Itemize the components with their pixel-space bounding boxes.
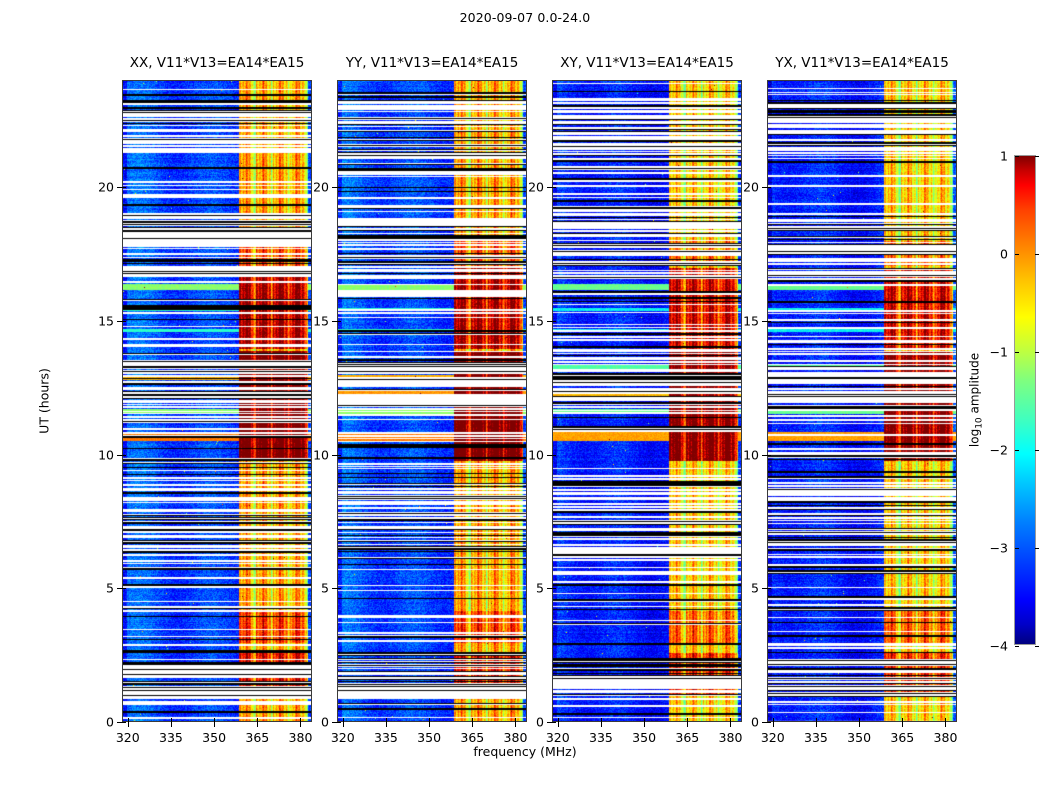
x-tick-mark xyxy=(902,722,903,727)
x-axis-label: frequency (MHz) xyxy=(0,744,1050,759)
x-tick-mark xyxy=(730,722,731,727)
x-tick-mark-inner xyxy=(773,718,774,722)
colorbar-tick-label: −3 xyxy=(990,541,1008,556)
x-tick-label: 380 xyxy=(289,730,313,745)
y-tick-mark-inner xyxy=(337,187,341,188)
y-tick-label: 5 xyxy=(106,581,114,596)
x-tick-label: 350 xyxy=(847,730,871,745)
y-tick-mark-inner xyxy=(767,321,771,322)
y-tick-label: 20 xyxy=(743,180,759,195)
y-tick-label: 10 xyxy=(743,447,759,462)
x-tick-mark-inner xyxy=(644,718,645,722)
y-axis-label: UT (hours) xyxy=(37,368,52,434)
x-tick-mark xyxy=(945,722,946,727)
x-tick-mark xyxy=(773,722,774,727)
y-tick-label: 0 xyxy=(751,715,759,730)
colorbar-tick-label: −2 xyxy=(990,443,1008,458)
waterfall-image-xx xyxy=(123,81,312,722)
colorbar-tick-mark-inner xyxy=(1015,254,1019,255)
x-tick-mark-inner xyxy=(300,718,301,722)
x-tick-label: 335 xyxy=(589,730,613,745)
x-tick-mark xyxy=(687,722,688,727)
x-tick-mark-inner xyxy=(429,718,430,722)
x-tick-mark-inner xyxy=(257,718,258,722)
y-tick-label: 15 xyxy=(528,313,544,328)
y-tick-mark-inner xyxy=(122,455,126,456)
heatmap-panel-yx[interactable]: YX, V11*V13=EA14*EA15 320335350365380051… xyxy=(767,80,957,722)
heatmap-panel-yy[interactable]: YY, V11*V13=EA14*EA15 320335350365380051… xyxy=(337,80,527,722)
y-tick-mark-inner xyxy=(552,722,556,723)
x-tick-mark-inner xyxy=(859,718,860,722)
x-tick-mark-inner xyxy=(386,718,387,722)
colorbar-tick-label: 1 xyxy=(1000,149,1008,164)
y-tick-label: 0 xyxy=(321,715,329,730)
x-tick-label: 365 xyxy=(675,730,699,745)
colorbar-label-sub: 10 xyxy=(975,417,985,428)
x-tick-label: 335 xyxy=(374,730,398,745)
axes-yy[interactable] xyxy=(337,80,527,722)
x-tick-mark xyxy=(515,722,516,727)
y-tick-label: 20 xyxy=(98,180,114,195)
colorbar-tick-label: −1 xyxy=(990,345,1008,360)
x-tick-mark xyxy=(429,722,430,727)
figure-canvas: 2020-09-07 0.0-24.0 UT (hours) frequency… xyxy=(0,0,1050,800)
y-tick-mark-inner xyxy=(767,722,771,723)
x-tick-mark-inner xyxy=(171,718,172,722)
x-tick-label: 335 xyxy=(804,730,828,745)
x-tick-label: 350 xyxy=(632,730,656,745)
y-tick-mark-inner xyxy=(337,588,341,589)
x-tick-mark xyxy=(257,722,258,727)
y-tick-mark-inner xyxy=(122,187,126,188)
colorbar-tick-label: 0 xyxy=(1000,247,1008,262)
waterfall-image-xy xyxy=(553,81,742,722)
panel-title-xy: XY, V11*V13=EA14*EA15 xyxy=(560,55,734,71)
colorbar-tick-mark-inner xyxy=(1015,156,1019,157)
y-tick-mark-inner xyxy=(767,187,771,188)
x-tick-label: 320 xyxy=(546,730,570,745)
y-tick-label: 0 xyxy=(106,715,114,730)
x-tick-label: 365 xyxy=(890,730,914,745)
heatmap-panel-xx[interactable]: XX, V11*V13=EA14*EA15 320335350365380051… xyxy=(122,80,312,722)
panel-title-yy: YY, V11*V13=EA14*EA15 xyxy=(346,55,519,71)
x-tick-mark xyxy=(859,722,860,727)
y-tick-mark-inner xyxy=(552,588,556,589)
y-tick-label: 5 xyxy=(321,581,329,596)
panel-title-yx: YX, V11*V13=EA14*EA15 xyxy=(775,55,949,71)
y-tick-label: 0 xyxy=(536,715,544,730)
y-tick-mark-inner xyxy=(122,722,126,723)
colorbar-tick-mark-inner xyxy=(1015,646,1019,647)
x-tick-mark xyxy=(128,722,129,727)
x-tick-mark-inner xyxy=(902,718,903,722)
y-tick-label: 15 xyxy=(98,313,114,328)
y-tick-mark-inner xyxy=(552,321,556,322)
y-tick-mark-inner xyxy=(767,455,771,456)
colorbar-tick-mark xyxy=(1035,352,1039,353)
figure-suptitle: 2020-09-07 0.0-24.0 xyxy=(0,10,1050,25)
x-tick-mark-inner xyxy=(687,718,688,722)
y-tick-mark-inner xyxy=(552,455,556,456)
y-tick-label: 5 xyxy=(536,581,544,596)
x-tick-label: 320 xyxy=(331,730,355,745)
x-tick-mark-inner xyxy=(558,718,559,722)
x-tick-mark-inner xyxy=(128,718,129,722)
y-tick-mark-inner xyxy=(767,588,771,589)
waterfall-image-yx xyxy=(768,81,957,722)
x-tick-mark-inner xyxy=(343,718,344,722)
heatmap-panel-xy[interactable]: XY, V11*V13=EA14*EA15 320335350365380051… xyxy=(552,80,742,722)
x-tick-label: 335 xyxy=(159,730,183,745)
colorbar[interactable]: 10−1−2−3−4 xyxy=(1014,155,1036,645)
colorbar-tick-mark-inner xyxy=(1015,450,1019,451)
axes-xy[interactable] xyxy=(552,80,742,722)
colorbar-tick-mark-inner xyxy=(1015,548,1019,549)
y-tick-label: 15 xyxy=(743,313,759,328)
colorbar-tick-mark xyxy=(1035,254,1039,255)
y-tick-mark-inner xyxy=(337,455,341,456)
x-tick-mark-inner xyxy=(816,718,817,722)
x-tick-label: 350 xyxy=(202,730,226,745)
y-tick-label: 10 xyxy=(528,447,544,462)
x-tick-mark-inner xyxy=(601,718,602,722)
axes-yx[interactable] xyxy=(767,80,957,722)
y-tick-label: 20 xyxy=(313,180,329,195)
x-tick-label: 380 xyxy=(504,730,528,745)
x-tick-mark xyxy=(171,722,172,727)
x-tick-label: 380 xyxy=(934,730,958,745)
x-tick-label: 380 xyxy=(719,730,743,745)
colorbar-tick-mark xyxy=(1035,156,1039,157)
y-tick-mark-inner xyxy=(122,321,126,322)
axes-xx[interactable] xyxy=(122,80,312,722)
colorbar-label-prefix: log xyxy=(967,429,981,447)
x-tick-mark xyxy=(644,722,645,727)
y-tick-mark-inner xyxy=(122,588,126,589)
x-tick-label: 350 xyxy=(417,730,441,745)
x-tick-mark-inner xyxy=(472,718,473,722)
x-tick-mark-inner xyxy=(945,718,946,722)
y-tick-mark-inner xyxy=(337,321,341,322)
x-tick-label: 365 xyxy=(460,730,484,745)
x-tick-mark xyxy=(386,722,387,727)
colorbar-tick-mark xyxy=(1035,450,1039,451)
x-tick-mark xyxy=(601,722,602,727)
panel-title-xx: XX, V11*V13=EA14*EA15 xyxy=(130,55,305,71)
colorbar-label: log10 amplitude xyxy=(967,353,984,447)
y-tick-label: 20 xyxy=(528,180,544,195)
x-tick-label: 320 xyxy=(761,730,785,745)
colorbar-tick-mark xyxy=(1035,646,1039,647)
x-tick-mark xyxy=(816,722,817,727)
y-tick-label: 10 xyxy=(98,447,114,462)
waterfall-image-yy xyxy=(338,81,527,722)
x-tick-label: 320 xyxy=(116,730,140,745)
y-tick-label: 10 xyxy=(313,447,329,462)
x-tick-mark-inner xyxy=(730,718,731,722)
x-tick-mark-inner xyxy=(515,718,516,722)
x-tick-mark xyxy=(300,722,301,727)
x-tick-mark xyxy=(472,722,473,727)
x-tick-mark xyxy=(343,722,344,727)
x-tick-mark xyxy=(558,722,559,727)
x-tick-label: 365 xyxy=(245,730,269,745)
x-tick-mark xyxy=(214,722,215,727)
y-tick-mark-inner xyxy=(337,722,341,723)
colorbar-tick-mark-inner xyxy=(1015,352,1019,353)
colorbar-label-suffix: amplitude xyxy=(967,353,981,417)
colorbar-tick-mark xyxy=(1035,548,1039,549)
x-tick-mark-inner xyxy=(214,718,215,722)
y-tick-label: 15 xyxy=(313,313,329,328)
colorbar-tick-label: −4 xyxy=(990,639,1008,654)
y-tick-label: 5 xyxy=(751,581,759,596)
y-tick-mark-inner xyxy=(552,187,556,188)
